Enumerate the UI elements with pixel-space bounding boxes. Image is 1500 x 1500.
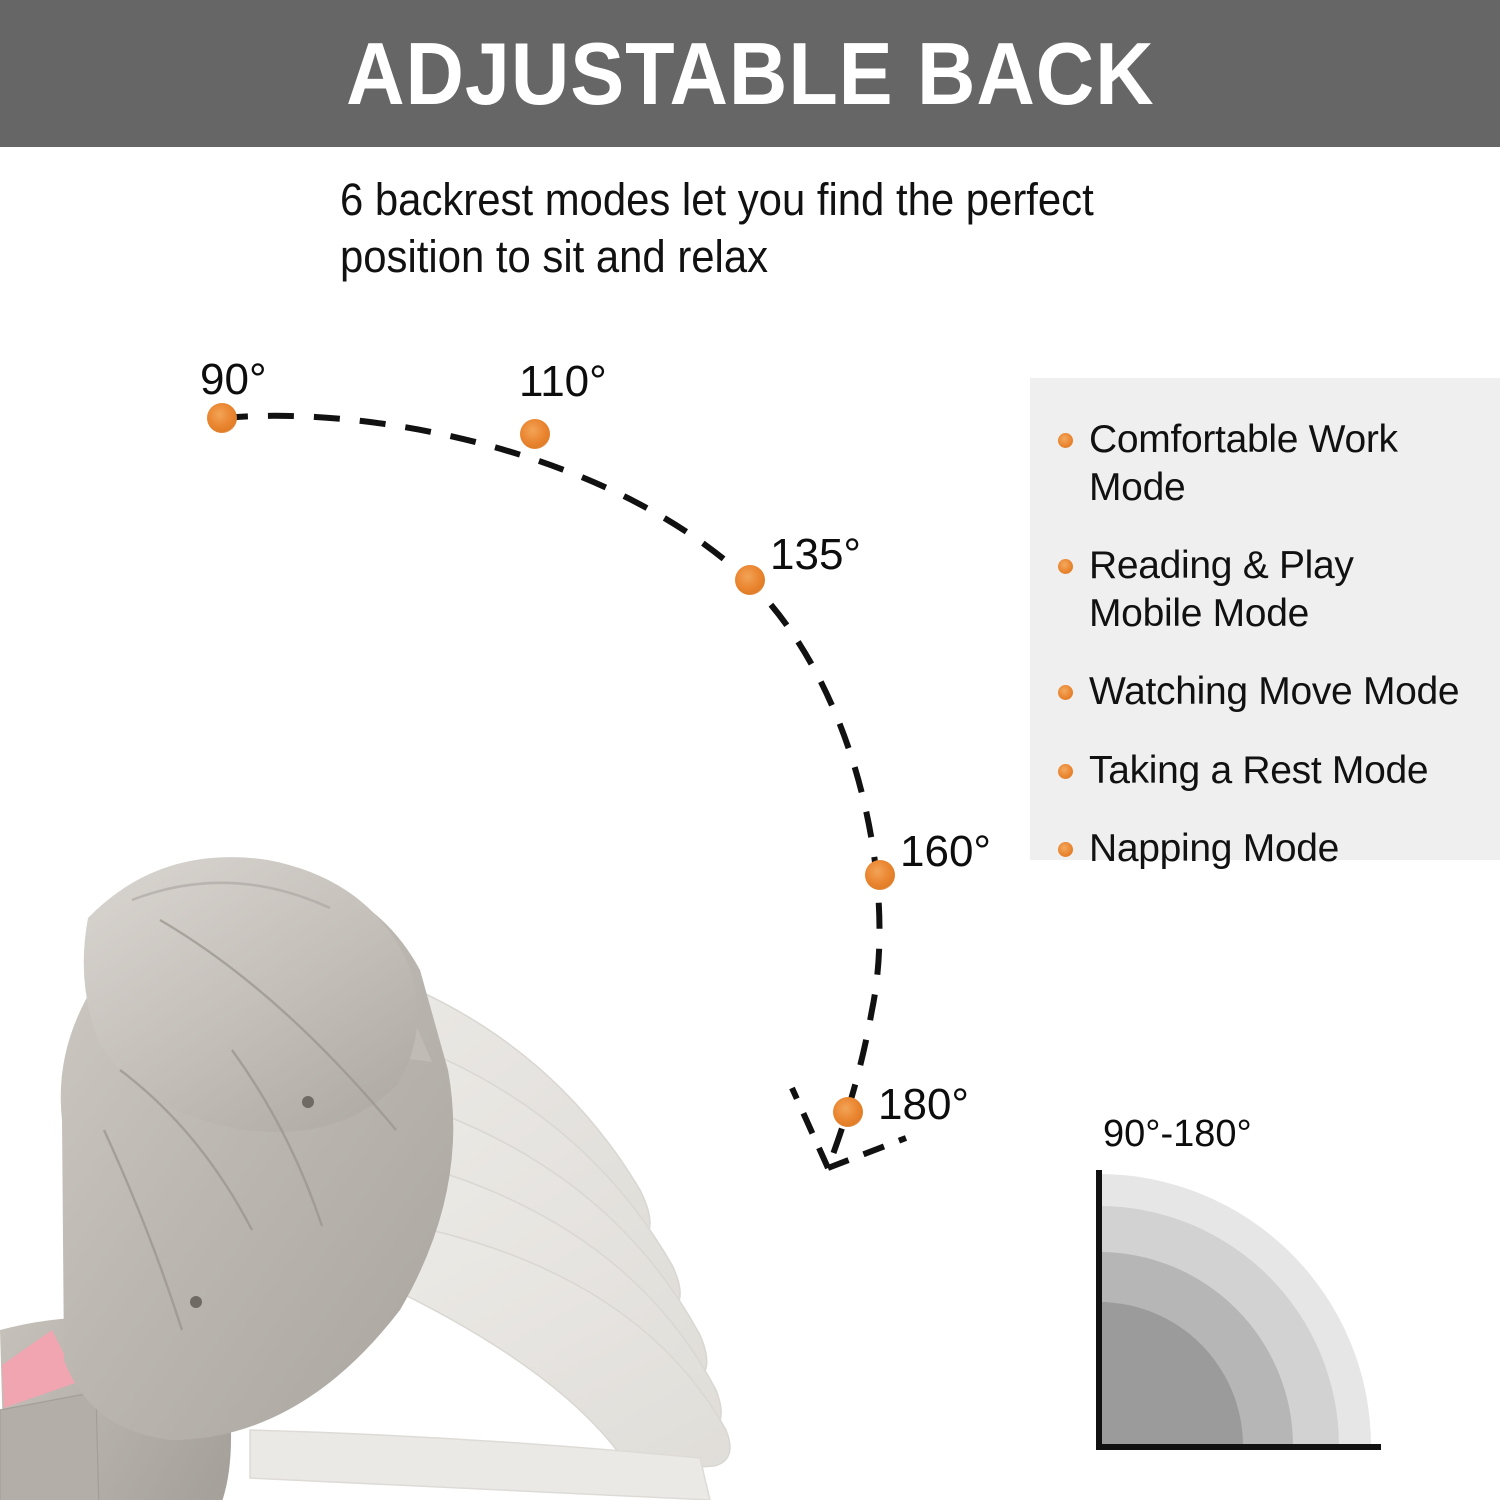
feature-label: Reading & Play Mobile Mode [1089, 542, 1354, 637]
quadrant-svg [1095, 1170, 1385, 1450]
feature-label: Taking a Rest Mode [1089, 747, 1428, 795]
list-item: Reading & Play Mobile Mode [1058, 542, 1484, 637]
subtitle: 6 backrest modes let you find the perfec… [340, 172, 1121, 285]
list-item: Napping Mode [1058, 825, 1484, 873]
list-item: Watching Move Mode [1058, 668, 1484, 716]
angle-label-180: 180° [878, 1083, 969, 1127]
angle-dot-110[interactable] [520, 419, 550, 449]
page-title: ADJUSTABLE BACK [346, 30, 1154, 118]
feature-label: Comfortable Work Mode [1089, 416, 1484, 511]
angle-range-label: 90°-180° [1103, 1115, 1252, 1153]
subtitle-line-2: position to sit and relax [340, 229, 1121, 286]
angle-label-160: 160° [900, 830, 991, 874]
angle-label-135: 135° [770, 533, 861, 577]
angle-range-diagram: 90°-180° [1095, 1115, 1415, 1455]
list-item: Comfortable Work Mode [1058, 416, 1484, 511]
bullet-dot-icon [1058, 433, 1073, 448]
feature-list-panel: Comfortable Work Mode Reading & Play Mob… [1030, 378, 1500, 860]
angle-dot-160[interactable] [865, 860, 895, 890]
angle-dot-180[interactable] [833, 1097, 863, 1127]
product-photo [0, 430, 800, 1500]
angle-label-90: 90° [200, 358, 267, 402]
feature-label: Napping Mode [1089, 825, 1339, 873]
angle-label-110: 110° [519, 360, 607, 404]
list-item: Taking a Rest Mode [1058, 747, 1484, 795]
infographic-page: ADJUSTABLE BACK 6 backrest modes let you… [0, 0, 1500, 1500]
bullet-dot-icon [1058, 842, 1073, 857]
header-banner: ADJUSTABLE BACK [0, 0, 1500, 147]
feature-label: Watching Move Mode [1089, 668, 1459, 716]
angle-dot-135[interactable] [735, 565, 765, 595]
angle-dot-90[interactable] [207, 403, 237, 433]
bullet-dot-icon [1058, 685, 1073, 700]
subtitle-line-1: 6 backrest modes let you find the perfec… [340, 172, 1121, 229]
bullet-dot-icon [1058, 559, 1073, 574]
bullet-dot-icon [1058, 764, 1073, 779]
arrowhead-right [828, 1138, 906, 1168]
